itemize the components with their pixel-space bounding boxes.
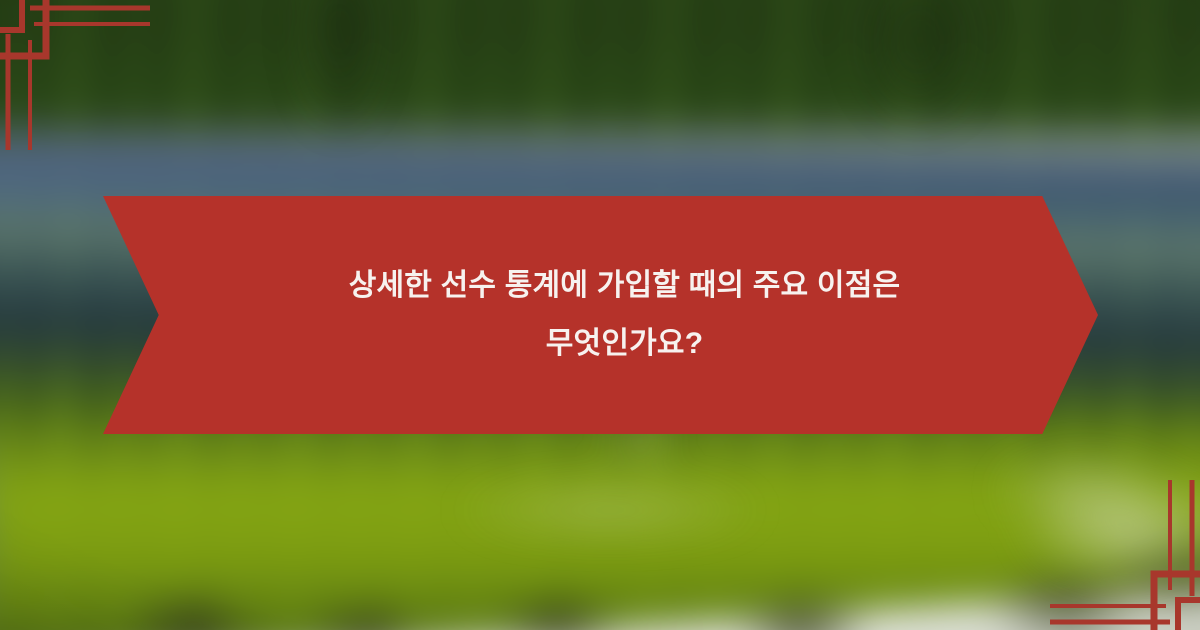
headline-text: 상세한 선수 통계에 가입할 때의 주요 이점은 무엇인가요? — [257, 257, 945, 374]
share-card: 상세한 선수 통계에 가입할 때의 주요 이점은 무엇인가요? — [0, 0, 1200, 630]
corner-ornament-bottom-right — [1050, 480, 1200, 630]
corner-ornament-top-left — [0, 0, 150, 150]
headline-banner: 상세한 선수 통계에 가입할 때의 주요 이점은 무엇인가요? — [103, 196, 1098, 434]
